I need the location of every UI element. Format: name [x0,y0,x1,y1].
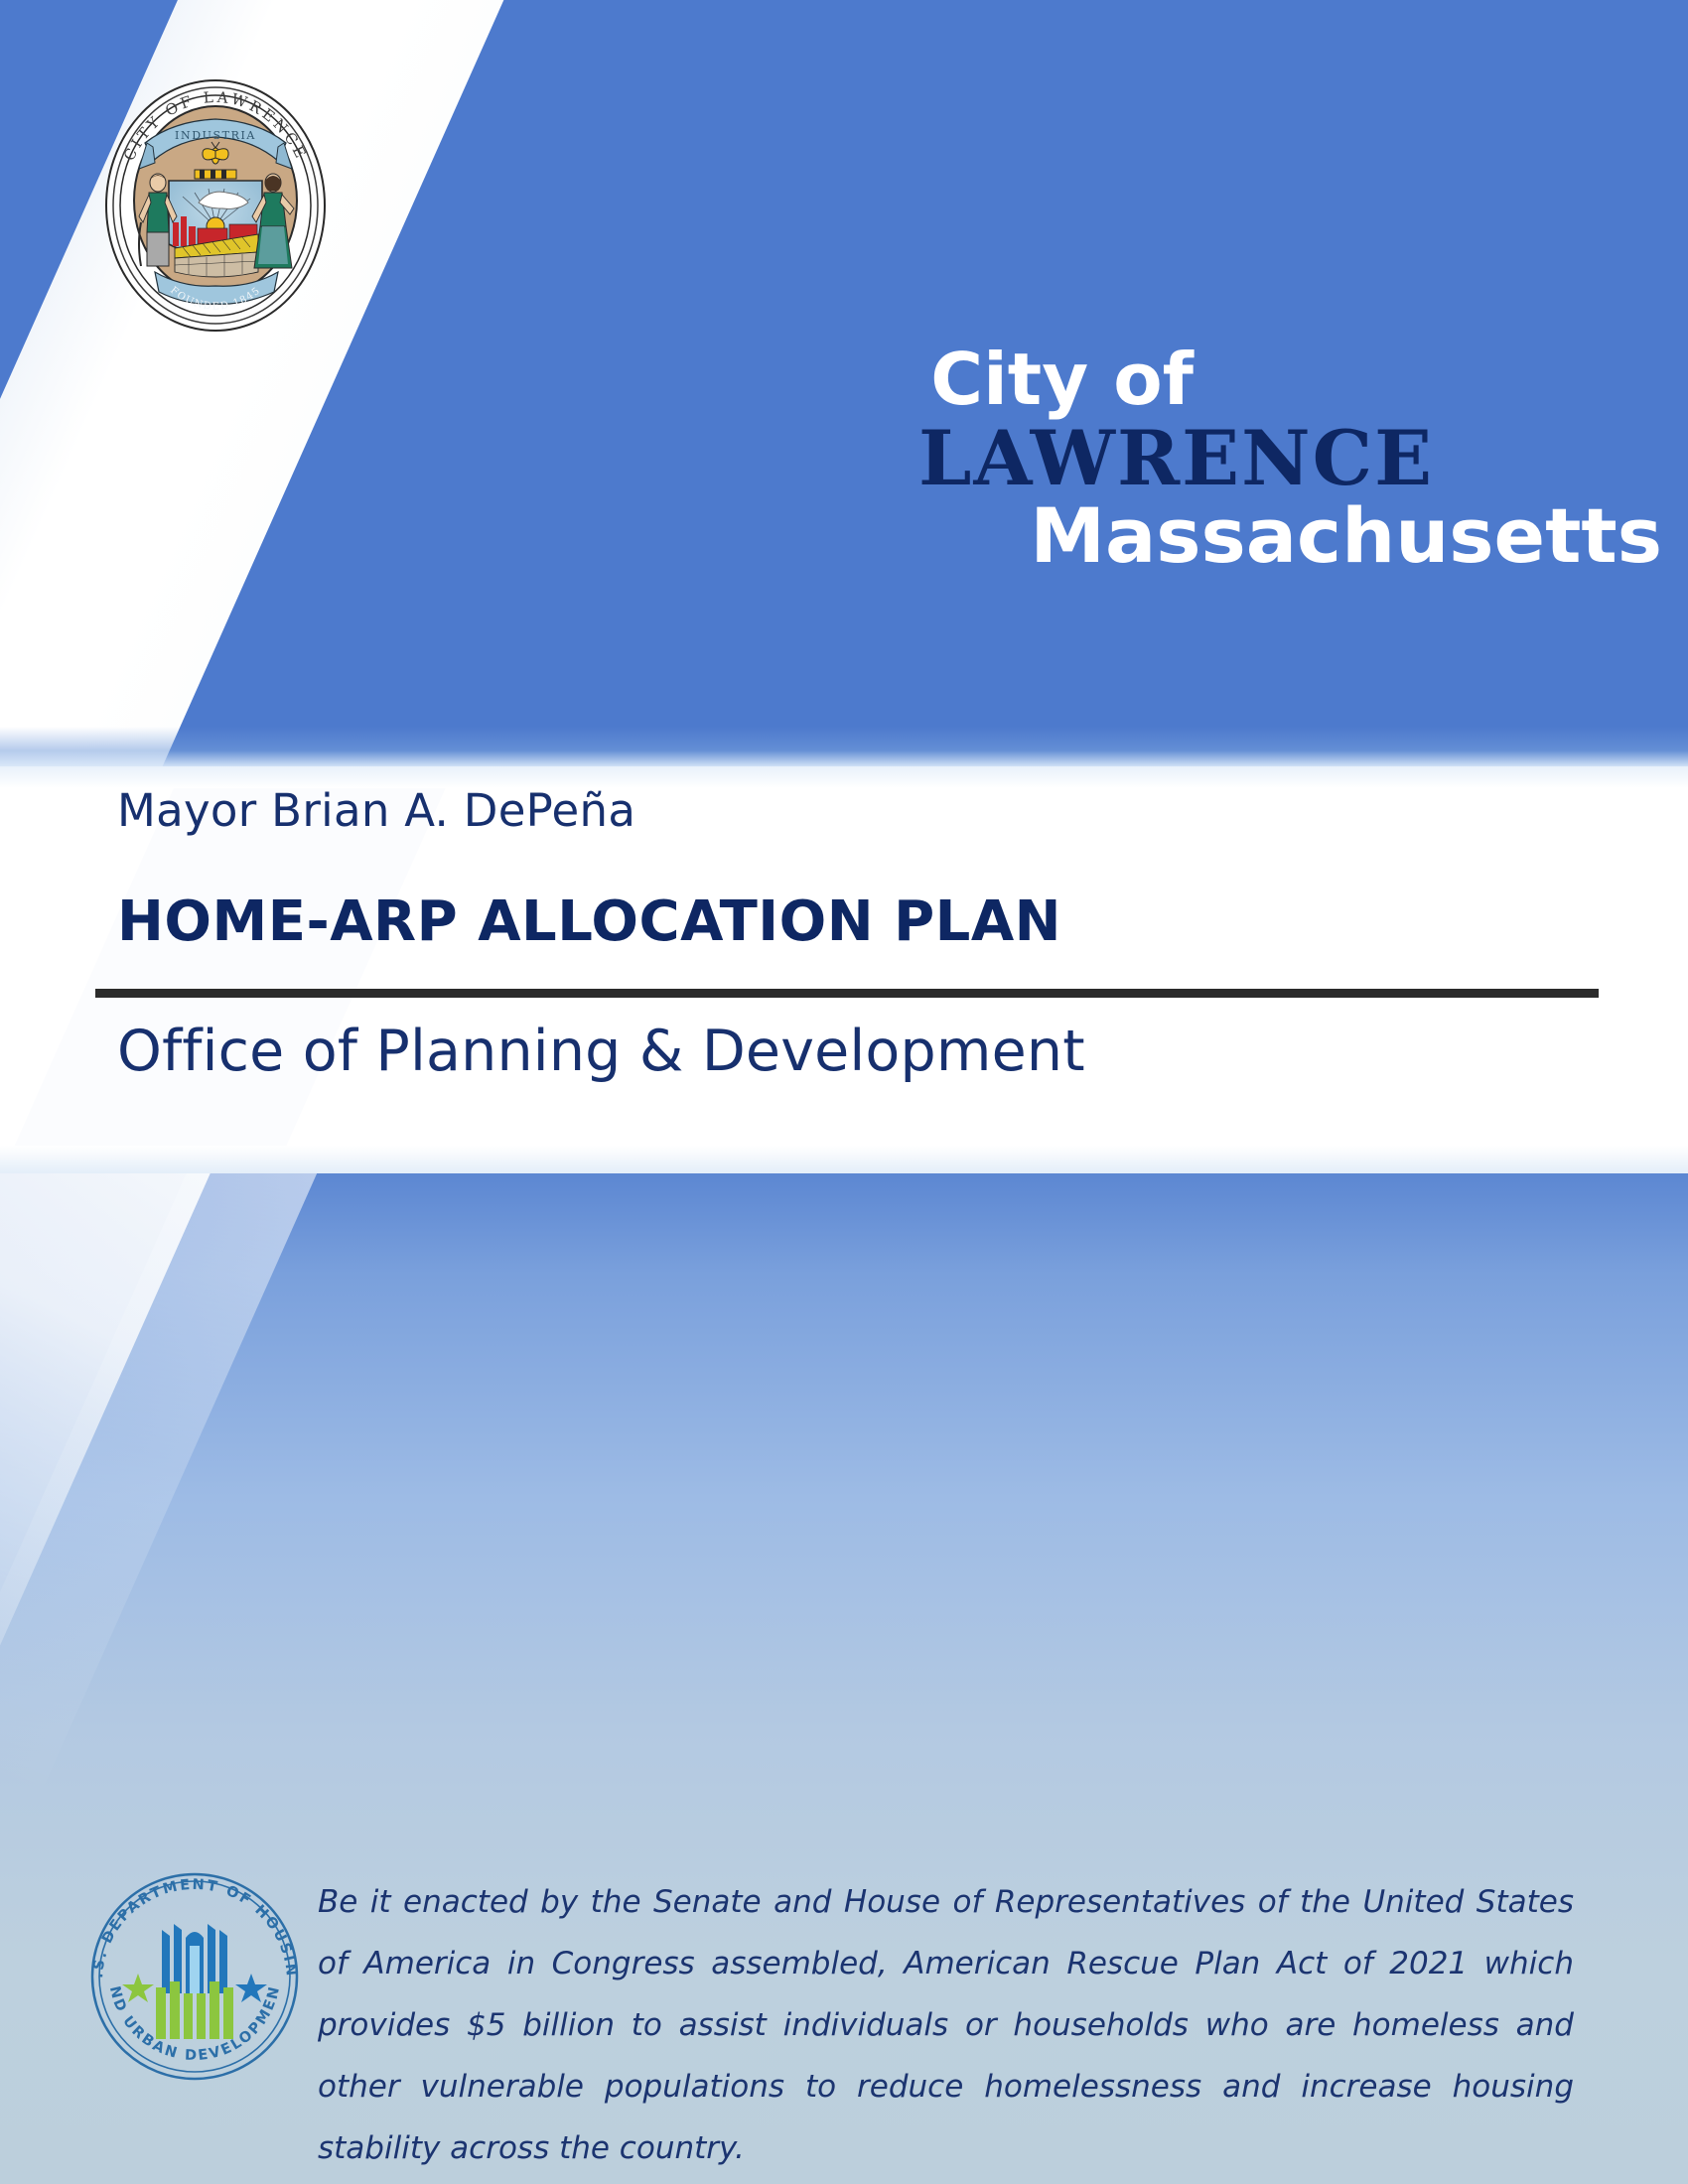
document-cover-page: CITY OF LAWRENCE 1853 INDUSTRIA [0,0,1688,2184]
title-lawrence: LAWRENCE [479,421,1670,496]
act-quote-text: Be it enacted by the Senate and House of… [318,1871,1574,2179]
header-band-bottom-shade [0,727,1688,766]
department-subtitle: Office of Planning & Development [117,1019,1085,1084]
cover-title-block: City of LAWRENCE Massachusetts [479,343,1670,574]
city-seal-icon: CITY OF LAWRENCE 1853 INDUSTRIA [103,77,328,334]
middle-band-bottom-glow [0,1146,1688,1173]
title-massachusetts: Massachusetts [479,498,1670,574]
mayor-name: Mayor Brian A. DePeña [117,784,635,837]
hud-seal-icon: U.S. DEPARTMENT OF HOUSING AND URBAN DEV… [84,1866,305,2087]
title-city-of: City of [479,343,1670,415]
page-title: HOME-ARP ALLOCATION PLAN [117,889,1061,954]
title-divider-rule [95,989,1599,998]
svg-text:INDUSTRIA: INDUSTRIA [175,129,256,142]
